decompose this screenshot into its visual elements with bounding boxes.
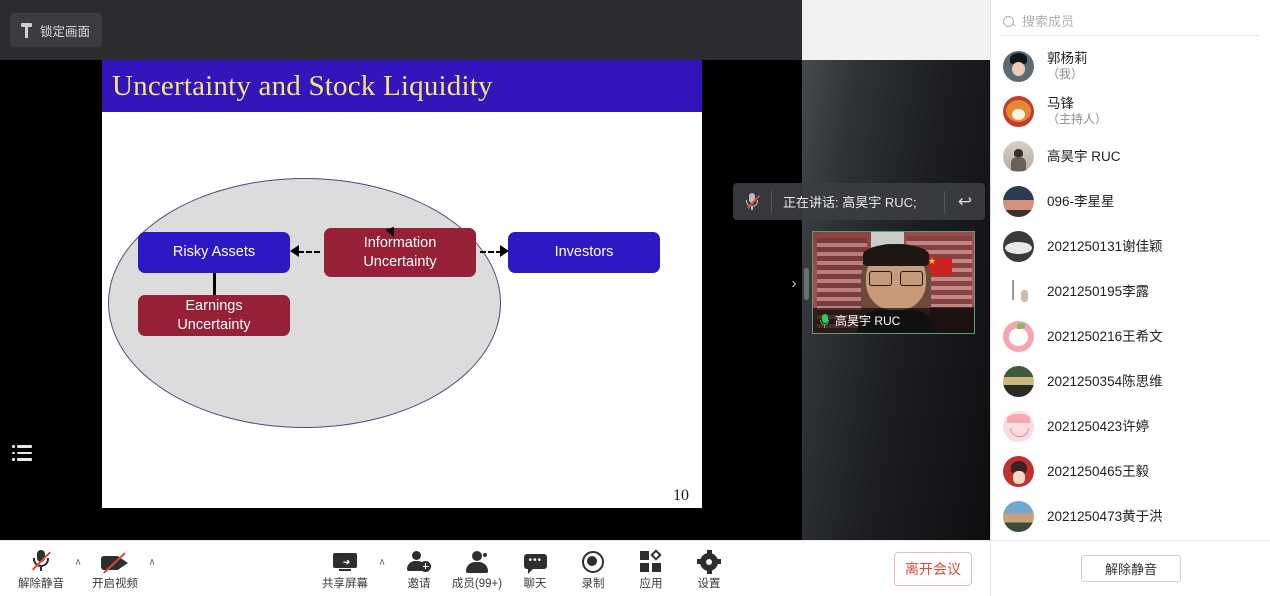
participant-name: 2021250216王希文: [1047, 328, 1163, 345]
camera-off-icon: [101, 547, 129, 573]
slide-title: Uncertainty and Stock Liquidity: [102, 70, 493, 103]
speaker-video-thumbnail[interactable]: 高昊宇 RUC: [812, 231, 975, 334]
participant-name: 096-李星星: [1047, 193, 1115, 210]
avatar: [1003, 321, 1034, 352]
participant-name-block: 2021250131谢佳颖: [1047, 238, 1163, 255]
thumbnail-participant-name: 高昊宇 RUC: [835, 312, 900, 329]
participant-name: 2021250473黄于洪: [1047, 508, 1163, 525]
diagram-arrow-right-head: [500, 245, 509, 257]
participant-list[interactable]: 郭杨莉（我）马锋（主持人）高昊宇 RUC096-李星星2021250131谢佳颖…: [991, 44, 1270, 540]
participant-name: 2021250465王毅: [1047, 463, 1149, 480]
participant-name-block: 马锋（主持人）: [1047, 95, 1107, 128]
participant-name: 2021250423许婷: [1047, 418, 1149, 435]
return-arrow-icon[interactable]: ↩: [945, 192, 985, 212]
diagram-node-information-uncertainty: Information Uncertainty: [324, 228, 476, 277]
participant-name: 高昊宇 RUC: [1047, 148, 1121, 165]
slide-title-bar: Uncertainty and Stock Liquidity: [102, 60, 702, 112]
list-view-icon[interactable]: [12, 444, 32, 462]
participant-row[interactable]: 2021250423许婷: [991, 404, 1270, 449]
avatar: [1003, 186, 1034, 217]
chevron-right-icon[interactable]: ›: [786, 268, 802, 298]
pin-icon: [20, 23, 33, 38]
participant-row[interactable]: 2021250195李露: [991, 269, 1270, 314]
meeting-stage: 锁定画面 Uncertainty and Stock Liquidity Ris…: [0, 0, 990, 540]
toolbar-settings-button[interactable]: 设置: [680, 547, 738, 591]
chevron-up-icon-video[interactable]: ∧: [144, 546, 160, 592]
diagram-node-risky-assets: Risky Assets: [138, 232, 290, 273]
participant-name: 马锋: [1047, 95, 1107, 112]
toolbar-start-video-button[interactable]: 开启视频: [86, 547, 144, 591]
chat-icon: •••: [524, 547, 547, 573]
leave-meeting-button[interactable]: 离开会议: [894, 552, 972, 586]
node-label: Investors: [555, 243, 614, 261]
participant-row[interactable]: 2021250473黄于洪: [991, 494, 1270, 539]
toolbar-share-screen-button[interactable]: ➜ 共享屏幕: [316, 547, 374, 591]
slide-body: Risky Assets Earnings Uncertainty Inform…: [102, 112, 702, 508]
node-label: Information Uncertainty: [363, 234, 436, 270]
participant-row[interactable]: 2021250465王毅: [991, 449, 1270, 494]
invite-icon: [407, 547, 431, 573]
avatar: [1003, 96, 1034, 127]
avatar: [1003, 456, 1034, 487]
search-icon: [1003, 16, 1015, 28]
toolbar-share-screen-label: 共享屏幕: [322, 575, 368, 591]
participant-name: 2021250354陈思维: [1047, 373, 1163, 390]
panel-unmute-button[interactable]: 解除静音: [1081, 555, 1181, 582]
toolbar-unmute-button[interactable]: 解除静音: [12, 547, 70, 591]
slide-page-number: 10: [673, 487, 689, 505]
participant-name-block: 2021250423许婷: [1047, 418, 1149, 435]
participant-name: 2021250131谢佳颖: [1047, 238, 1163, 255]
toolbar-apps-button[interactable]: 应用: [622, 547, 680, 591]
search-input[interactable]: [1022, 14, 1260, 29]
shared-slide[interactable]: Uncertainty and Stock Liquidity Risky As…: [102, 60, 702, 508]
node-label-line1: Earnings: [185, 298, 242, 314]
lock-screen-label: 锁定画面: [40, 21, 90, 40]
diagram-arrow-left-line: [298, 251, 320, 253]
participant-row[interactable]: 郭杨莉（我）: [991, 44, 1270, 89]
toolbar-apps-label: 应用: [640, 575, 663, 591]
speaking-text: 正在讲话: 高昊宇 RUC;: [772, 192, 944, 211]
node-label: Earnings Uncertainty: [177, 297, 250, 333]
toolbar-invite-button[interactable]: 邀请: [390, 547, 448, 591]
node-label: Risky Assets: [173, 243, 255, 261]
diagram-arrow-right-line: [480, 251, 502, 253]
diagram-arrow-left-head: [290, 245, 299, 257]
toolbar-record-label: 录制: [582, 575, 605, 591]
mic-muted-icon: [32, 547, 50, 573]
avatar: [1003, 411, 1034, 442]
toolbar-invite-label: 邀请: [408, 575, 431, 591]
settings-icon: [698, 547, 720, 573]
share-screen-icon: ➜: [333, 547, 357, 573]
chevron-up-icon-share[interactable]: ∧: [374, 546, 390, 592]
participant-row[interactable]: 高昊宇 RUC: [991, 134, 1270, 179]
participant-name-block: 2021250473黄于洪: [1047, 508, 1163, 525]
participant-name-block: 2021250195李露: [1047, 283, 1149, 300]
members-icon: [466, 547, 488, 573]
avatar: [1003, 231, 1034, 262]
node-label-line1: Information: [364, 235, 437, 251]
participant-name-block: 郭杨莉（我）: [1047, 50, 1088, 83]
participant-name-block: 2021250465王毅: [1047, 463, 1149, 480]
participant-role: （主持人）: [1047, 112, 1107, 127]
apps-icon: [640, 547, 662, 573]
diagram-node-earnings-uncertainty: Earnings Uncertainty: [138, 295, 290, 336]
participant-name-block: 096-李星星: [1047, 193, 1115, 210]
participant-row[interactable]: 马锋（主持人）: [991, 89, 1270, 134]
toolbar-members-button[interactable]: 成员(99+): [448, 547, 506, 591]
avatar: [1003, 501, 1034, 532]
avatar: [1003, 276, 1034, 307]
avatar: [1003, 51, 1034, 82]
diagram-connector-vertical: [213, 273, 216, 295]
participant-row[interactable]: 2021250354陈思维: [991, 359, 1270, 404]
participant-role: （我）: [1047, 67, 1088, 82]
thumbnail-name-overlay: 高昊宇 RUC: [813, 308, 974, 333]
avatar: [1003, 141, 1034, 172]
diagram-node-investors: Investors: [508, 232, 660, 273]
record-icon: [582, 547, 604, 573]
participant-row[interactable]: 096-李星星: [991, 179, 1270, 224]
panel-footer: 解除静音: [991, 540, 1270, 596]
chevron-up-icon-audio[interactable]: ∧: [70, 546, 86, 592]
search-bar[interactable]: [1001, 8, 1260, 36]
toolbar-settings-label: 设置: [698, 575, 721, 591]
meeting-toolbar: 解除静音 ∧ 开启视频 ∧ ➜ 共享屏幕 ∧ 邀请 成员(99+) ••• 聊天: [0, 540, 990, 596]
stage-top-bar-right-fill: [802, 0, 990, 60]
toolbar-chat-label: 聊天: [524, 575, 547, 591]
participants-panel: 郭杨莉（我）马锋（主持人）高昊宇 RUC096-李星星2021250131谢佳颖…: [990, 0, 1270, 596]
participant-row[interactable]: 2021250216王希文: [991, 314, 1270, 359]
toolbar-start-video-label: 开启视频: [92, 575, 138, 591]
mic-muted-icon: [733, 193, 771, 210]
mic-active-icon: [820, 314, 829, 328]
node-label-line2: Uncertainty: [177, 317, 250, 333]
participant-name-block: 2021250354陈思维: [1047, 373, 1163, 390]
speaking-banner: 正在讲话: 高昊宇 RUC; ↩: [733, 183, 985, 220]
participant-name-block: 高昊宇 RUC: [1047, 148, 1121, 165]
toolbar-unmute-label: 解除静音: [18, 575, 64, 591]
participant-row[interactable]: 2021250131谢佳颖: [991, 224, 1270, 269]
participant-name-block: 2021250216王希文: [1047, 328, 1163, 345]
toolbar-members-label: 成员(99+): [452, 575, 502, 591]
avatar: [1003, 366, 1034, 397]
video-strip-handle[interactable]: [804, 268, 809, 300]
participant-name: 郭杨莉: [1047, 50, 1088, 67]
lock-screen-button[interactable]: 锁定画面: [10, 13, 102, 47]
node-label-line2: Uncertainty: [363, 254, 436, 270]
toolbar-record-button[interactable]: 录制: [564, 547, 622, 591]
participant-name: 2021250195李露: [1047, 283, 1149, 300]
toolbar-chat-button[interactable]: ••• 聊天: [506, 547, 564, 591]
